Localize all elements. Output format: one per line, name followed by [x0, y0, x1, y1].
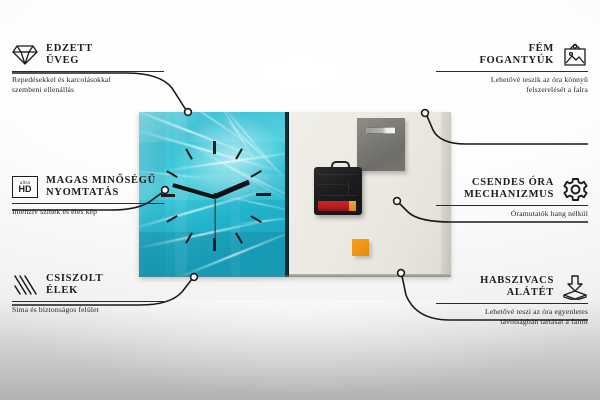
feature-description: Repedésekkel és karcolásokkal szembeni e… — [12, 75, 132, 94]
second-hand — [214, 196, 215, 250]
ultra-hd-icon-hd-label: HD — [19, 185, 32, 195]
clock-pivot — [213, 193, 218, 198]
feature-high-quality-print[interactable]: ultra HD MAGAS MINŐSÉGŰ NYOMTATÁS Intenz… — [12, 174, 164, 217]
feature-rule — [12, 301, 164, 302]
feature-description-line2: távolságban tartását a faltól — [436, 317, 588, 327]
feature-description: Intenzív színek és éles kép — [12, 207, 164, 217]
hour-marker — [213, 141, 216, 154]
wall-mount-icon — [562, 42, 588, 68]
feature-description: Lehetővé teszi az óra egyenletes távolsá… — [436, 307, 588, 326]
feature-description-line1: Lehetővé teszi az óra egyenletes — [436, 307, 588, 317]
metal-hanger — [357, 118, 405, 171]
feature-rule — [436, 303, 588, 304]
feature-metal-handles[interactable]: FÉM FOGANTYÚK Lehetővé teszik az óra kön… — [436, 42, 588, 94]
polished-edges-icon — [12, 272, 38, 298]
feature-title: FÉM FOGANTYÚK — [479, 43, 554, 68]
infographic-canvas: EDZETT ÜVEG Repedésekkel és karcolásokka… — [0, 0, 600, 400]
feature-tempered-glass[interactable]: EDZETT ÜVEG Repedésekkel és karcolásokka… — [12, 42, 164, 94]
feature-title: CSISZOLT ÉLEK — [46, 273, 103, 298]
feature-rule — [12, 203, 164, 204]
hour-marker — [256, 193, 271, 196]
feature-foam-spacer[interactable]: HABSZIVACS ALÁTÉT Lehetővé teszi az óra … — [436, 274, 588, 326]
feature-rule — [436, 205, 588, 206]
connector-metal-handles — [427, 116, 588, 144]
movement-loop — [331, 161, 350, 172]
feature-description: Lehetővé teszik az óra könnyű felszerelé… — [470, 75, 588, 94]
feature-description: Óramutatók hang nélkül — [436, 209, 588, 219]
battery — [318, 201, 356, 211]
hanger-slot — [366, 127, 396, 134]
feature-description: Sima és biztonságos felület — [12, 305, 164, 315]
foam-pad-icon — [562, 274, 588, 300]
product-image — [139, 112, 451, 277]
quartz-movement — [314, 167, 362, 215]
ultra-hd-icon: ultra HD — [12, 174, 38, 200]
feature-title: EDZETT ÜVEG — [46, 43, 93, 68]
feature-rule — [12, 71, 164, 72]
diamond-icon — [12, 42, 38, 68]
gear-icon — [562, 176, 588, 202]
feature-polished-edges[interactable]: CSISZOLT ÉLEK Sima és biztonságos felüle… — [12, 272, 164, 315]
clock-back-panel — [289, 112, 451, 277]
battery-terminal — [349, 201, 356, 211]
feature-title: MAGAS MINŐSÉGŰ NYOMTATÁS — [46, 175, 156, 200]
feature-title: HABSZIVACS ALÁTÉT — [480, 275, 554, 300]
feature-title: CSENDES ÓRA MECHANIZMUS — [464, 177, 554, 202]
foam-pad — [352, 239, 369, 256]
feature-silent-mechanism[interactable]: CSENDES ÓRA MECHANIZMUS Óramutatók hang … — [436, 176, 588, 219]
feature-rule — [436, 71, 588, 72]
